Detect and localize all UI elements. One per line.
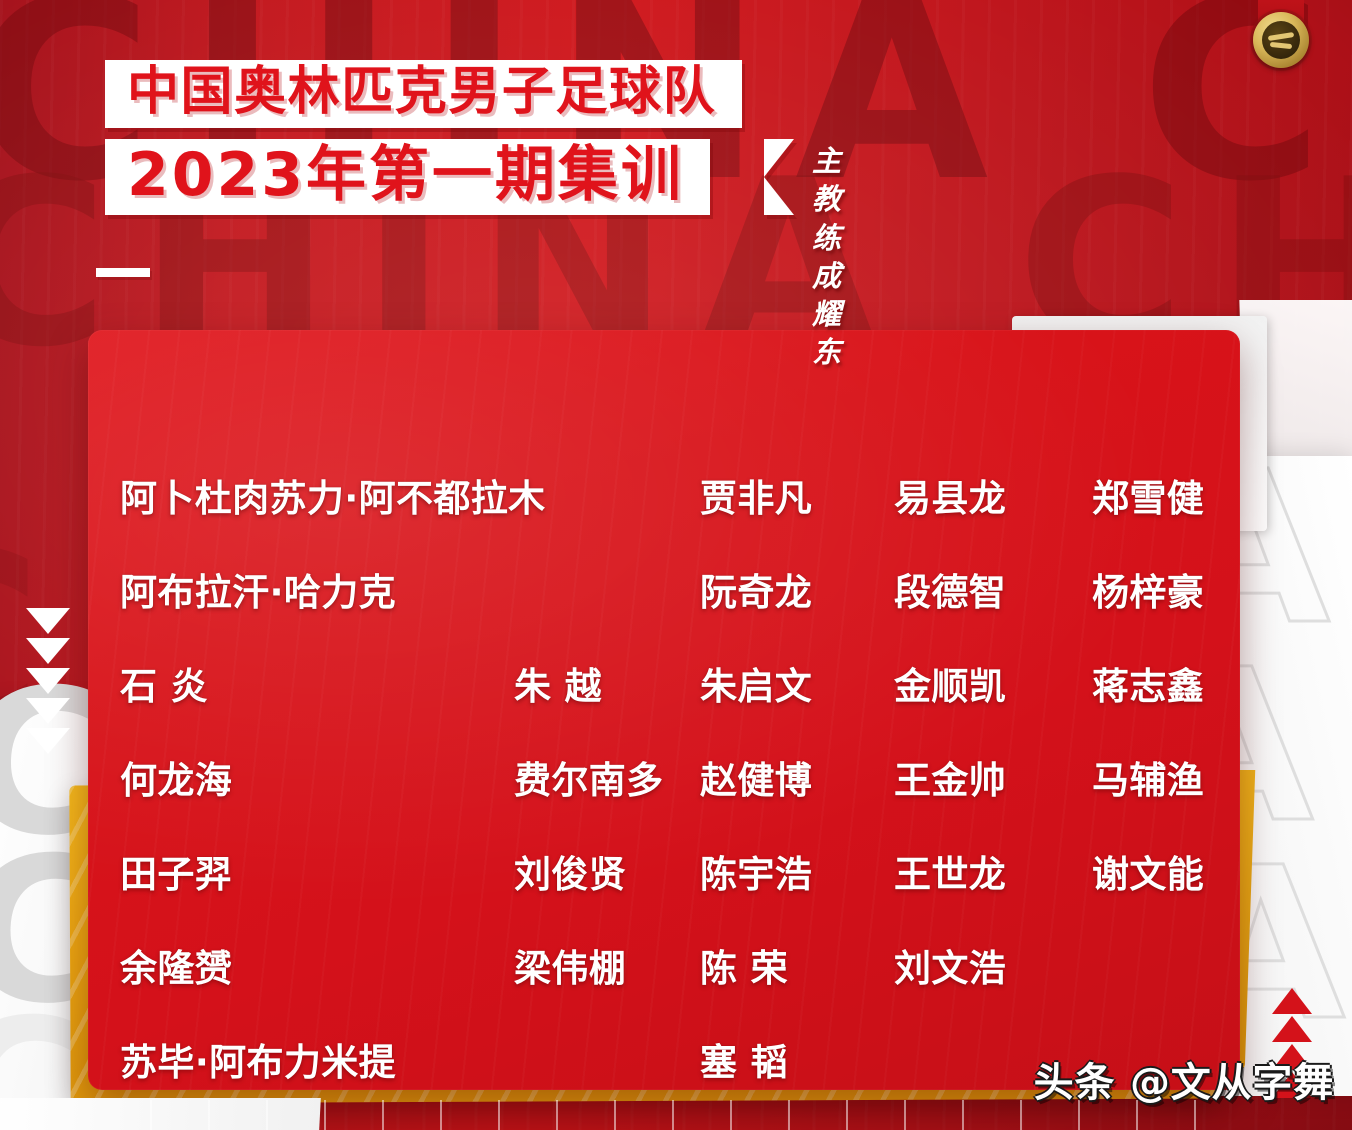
roster-name: 段德智 [894, 562, 1092, 616]
watermark-label: 头条 @文从字舞 [1034, 1050, 1334, 1108]
roster-name: 赵健博 [700, 750, 894, 804]
roster-name: 田子羿 [120, 844, 514, 898]
roster-name: 刘俊贤 [514, 844, 700, 898]
chevron-down-icon [26, 728, 70, 754]
chevron-down-icon [26, 698, 70, 724]
chevron-down-icon [26, 668, 70, 694]
page-subtitle: 2023年第一期集训 [127, 145, 684, 205]
cfa-crest-core [1262, 21, 1300, 59]
roster-name: 朱 越 [514, 656, 700, 710]
roster-name: 杨梓豪 [1092, 562, 1240, 616]
roster-name: 刘文浩 [894, 938, 1092, 992]
chevron-down-icon [26, 608, 70, 634]
roster-name: 易县龙 [894, 468, 1092, 522]
roster-name: 阮奇龙 [700, 562, 894, 616]
roster-name: 朱启文 [700, 656, 894, 710]
coach-role-label: 主教练 [812, 142, 844, 257]
chevron-decor-left [26, 608, 70, 758]
roster-name: 陈宇浩 [700, 844, 894, 898]
roster-name: 金顺凯 [894, 656, 1092, 710]
cfa-crest-icon [1253, 12, 1309, 68]
roster-name: 谢文能 [1092, 844, 1240, 898]
roster-name: 阿卜杜肉苏力·阿不都拉木 [120, 468, 700, 522]
page-title: 中国奥林匹克男子足球队 [127, 66, 716, 118]
title-bar-primary: 中国奥林匹克男子足球队 [105, 60, 742, 128]
coach-name-label: 成耀东 [812, 257, 844, 372]
title-notch-arrow [764, 139, 794, 215]
triangle-up-icon [1272, 988, 1312, 1014]
roster-name: 郑雪健 [1092, 468, 1240, 522]
roster-name: 陈 荣 [700, 938, 894, 992]
roster-name: 王金帅 [894, 750, 1092, 804]
roster-name: 何龙海 [120, 750, 514, 804]
roster-name: 塞 韬 [700, 1032, 894, 1086]
title-dash-accent [96, 268, 150, 277]
chevron-down-icon [26, 638, 70, 664]
roster-name: 费尔南多 [514, 750, 700, 804]
roster-name: 贾非凡 [700, 468, 894, 522]
poster-stage: CHINA CHINA CHINA CHINA CHINA CHINA CHIN… [0, 0, 1352, 1130]
roster-name: 蒋志鑫 [1092, 656, 1240, 710]
roster-name: 余隆赟 [120, 938, 514, 992]
roster-name: 马辅渔 [1092, 750, 1240, 804]
roster-name: 苏毕·阿布力米提 [120, 1032, 700, 1086]
roster-card: 阿卜杜肉苏力·阿不都拉木 贾非凡 易县龙 郑雪健 阿布拉汗·哈力克 阮奇龙 段德… [88, 330, 1240, 1090]
roster-name: 王世龙 [894, 844, 1092, 898]
title-bar-secondary: 2023年第一期集训 [105, 139, 710, 215]
roster-name: 梁伟棚 [514, 938, 700, 992]
coach-block: 主教练 成耀东 [812, 142, 844, 372]
roster-name: 石 炎 [120, 656, 514, 710]
roster-name: 阿布拉汗·哈力克 [120, 562, 700, 616]
roster-grid: 阿卜杜肉苏力·阿不都拉木 贾非凡 易县龙 郑雪健 阿布拉汗·哈力克 阮奇龙 段德… [88, 330, 1240, 1090]
triangle-up-icon [1272, 1016, 1312, 1042]
